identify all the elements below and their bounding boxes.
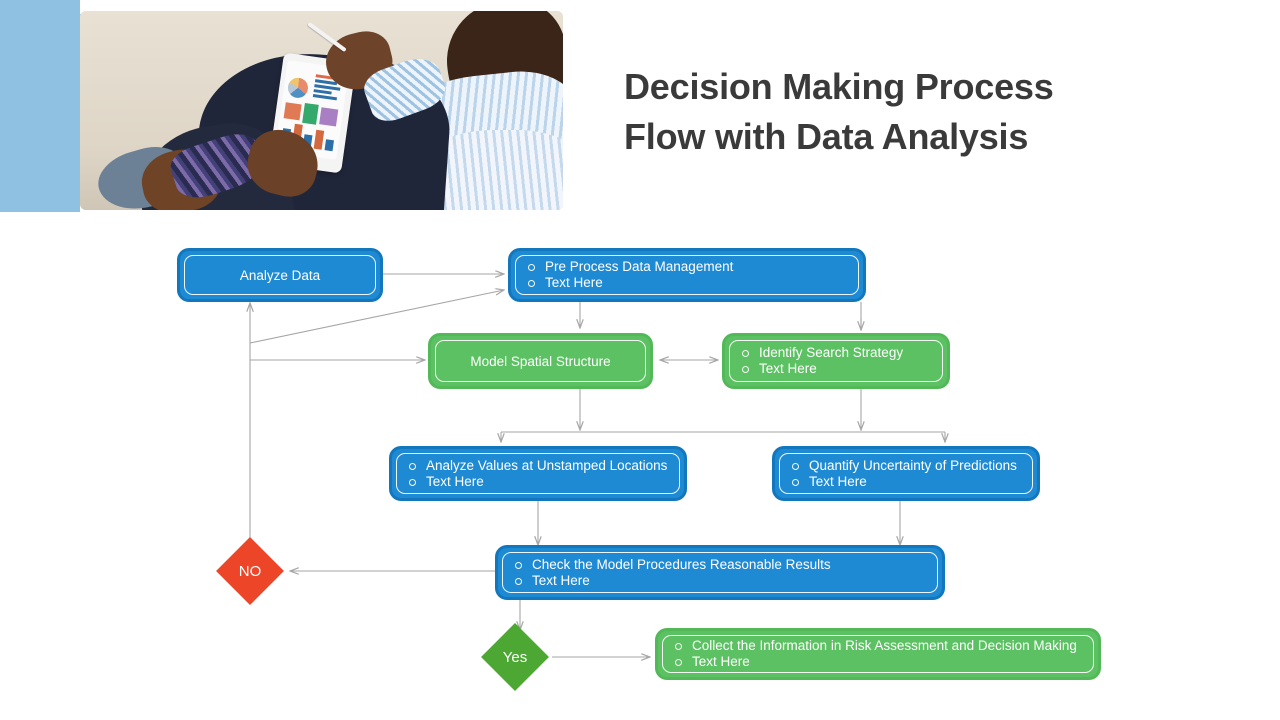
- decision-no-label: NO: [239, 563, 262, 580]
- node-analyze-values-bullets: Analyze Values at Unstamped Locations Te…: [392, 458, 667, 490]
- decision-yes-label: Yes: [503, 649, 527, 666]
- decision-yes[interactable]: Yes: [481, 623, 549, 691]
- bullet-item: Text Here: [759, 361, 903, 377]
- node-model-spatial-label: Model Spatial Structure: [431, 354, 650, 369]
- flowchart: Analyze Data Pre Process Data Management…: [0, 0, 1280, 720]
- bullet-item: Collect the Information in Risk Assessme…: [692, 638, 1077, 654]
- bullet-item: Pre Process Data Management: [545, 259, 733, 275]
- decision-no[interactable]: NO: [216, 537, 284, 605]
- node-identify-search-bullets: Identify Search Strategy Text Here: [725, 345, 903, 377]
- bullet-item: Identify Search Strategy: [759, 345, 903, 361]
- node-analyze-data-label: Analyze Data: [180, 268, 380, 283]
- slide-canvas: Decision Making Process Flow with Data A…: [0, 0, 1280, 720]
- bullet-item: Text Here: [692, 654, 1077, 670]
- bullet-item: Text Here: [545, 275, 733, 291]
- node-pre-process[interactable]: Pre Process Data Management Text Here: [508, 248, 866, 302]
- bullet-item: Analyze Values at Unstamped Locations: [426, 458, 667, 474]
- node-model-spatial-structure[interactable]: Model Spatial Structure: [428, 333, 653, 389]
- node-check-model[interactable]: Check the Model Procedures Reasonable Re…: [495, 545, 945, 600]
- bullet-item: Text Here: [532, 573, 831, 589]
- node-identify-search-strategy[interactable]: Identify Search Strategy Text Here: [722, 333, 950, 389]
- node-analyze-values[interactable]: Analyze Values at Unstamped Locations Te…: [389, 446, 687, 501]
- node-collect-information-bullets: Collect the Information in Risk Assessme…: [658, 638, 1077, 670]
- node-collect-information[interactable]: Collect the Information in Risk Assessme…: [655, 628, 1101, 680]
- node-quantify-uncertainty[interactable]: Quantify Uncertainty of Predictions Text…: [772, 446, 1040, 501]
- node-quantify-uncertainty-bullets: Quantify Uncertainty of Predictions Text…: [775, 458, 1017, 490]
- node-check-model-bullets: Check the Model Procedures Reasonable Re…: [498, 557, 831, 589]
- bullet-item: Text Here: [426, 474, 667, 490]
- bullet-item: Check the Model Procedures Reasonable Re…: [532, 557, 831, 573]
- node-analyze-data[interactable]: Analyze Data: [177, 248, 383, 302]
- bullet-item: Quantify Uncertainty of Predictions: [809, 458, 1017, 474]
- bullet-item: Text Here: [809, 474, 1017, 490]
- node-pre-process-bullets: Pre Process Data Management Text Here: [511, 259, 733, 291]
